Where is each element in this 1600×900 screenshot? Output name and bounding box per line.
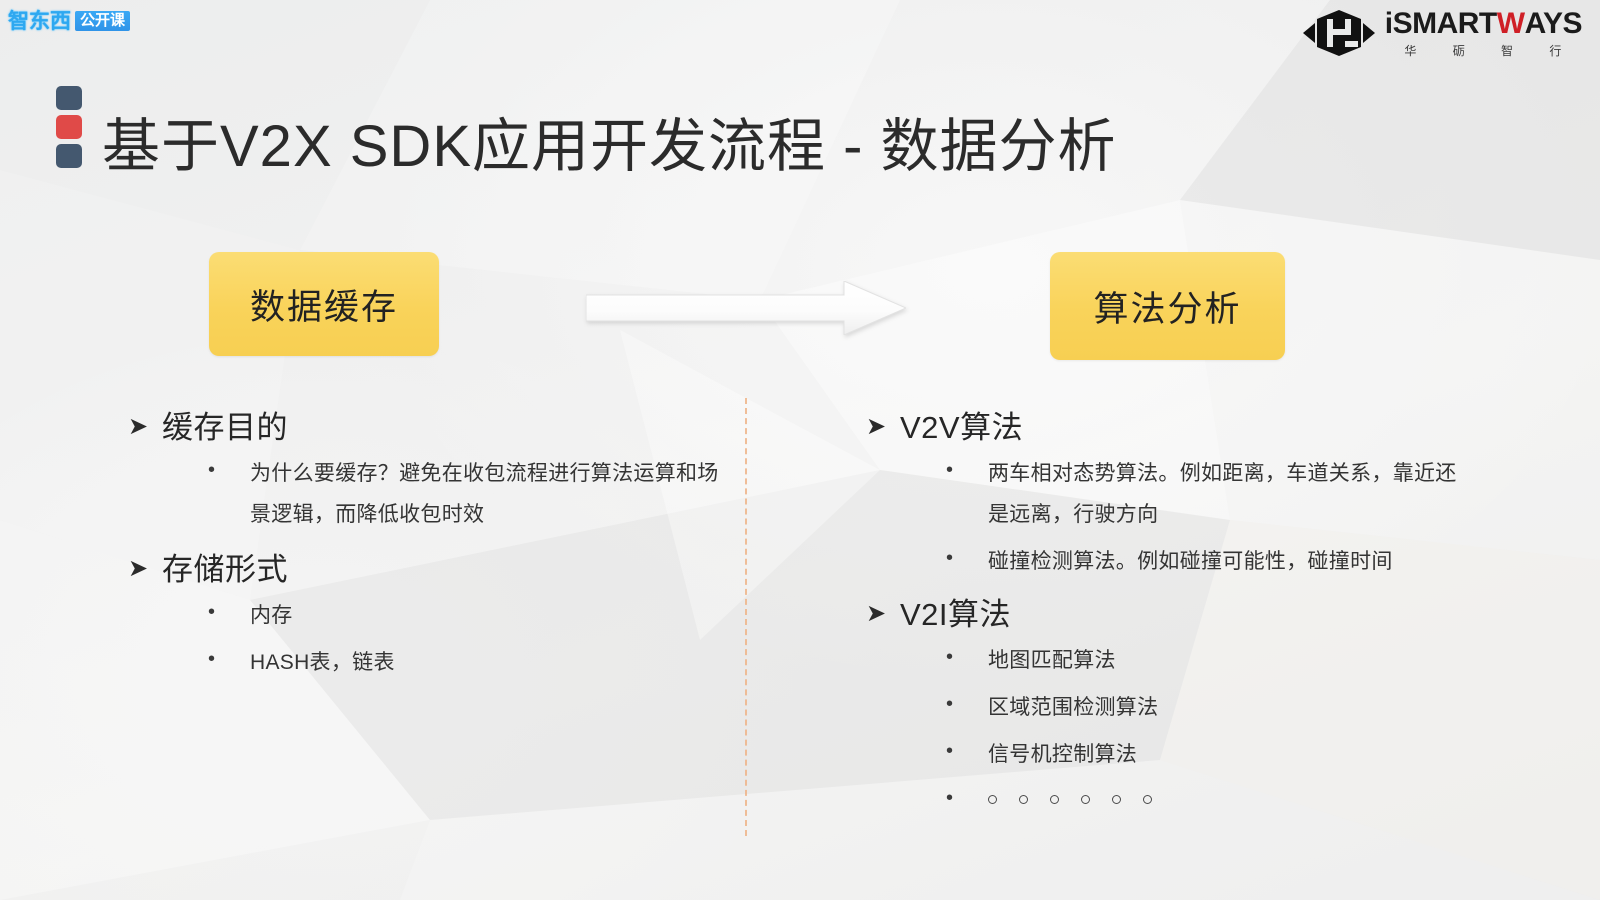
list-item-label: 地图匹配算法	[988, 641, 1116, 682]
right-arrow-icon	[586, 281, 906, 335]
dot-bullet-icon: •	[208, 597, 250, 628]
brand-wordmark: iSMART W AYS	[1385, 9, 1582, 39]
section-heading-cache-purpose: ➤ 缓存目的	[128, 408, 728, 448]
brand-word-part2: W	[1497, 9, 1525, 39]
list-item-label: 为什么要缓存？避免在收包流程进行算法运算和场景逻辑，而降低收包时效	[250, 454, 720, 536]
dot-bullet-icon: •	[946, 455, 988, 486]
chevron-right-bullet-icon: ➤	[866, 412, 900, 442]
title-marker-group	[56, 86, 82, 168]
title-row: 基于V2X SDK应用开发流程 - 数据分析	[56, 78, 1117, 217]
list-item: • 碰撞检测算法。例如碰撞可能性，碰撞时间	[946, 542, 1486, 583]
brand-sub-char-1: 砺	[1435, 45, 1483, 57]
zhidongxi-logo-icon: 智东西	[8, 11, 71, 32]
brand-subtitle: 华 砺 智 行	[1385, 45, 1582, 57]
list-item: • 内存	[208, 596, 728, 637]
list-item: • 信号机控制算法	[946, 735, 1486, 776]
dot-bullet-icon: •	[946, 689, 988, 720]
open-class-badge: 公开课	[75, 11, 130, 31]
brand-logo: iSMART W AYS 华 砺 智 行	[1303, 4, 1582, 62]
column-divider	[745, 398, 747, 836]
title-marker-2	[56, 144, 82, 168]
list-item: • 两车相对态势算法。例如距离，车道关系，靠近还是远离，行驶方向	[946, 454, 1486, 536]
heading-label: 存储形式	[162, 550, 288, 590]
dot-bullet-icon: •	[946, 543, 988, 574]
ellipsis-circle	[988, 795, 997, 804]
list-item-label: 区域范围检测算法	[988, 688, 1158, 729]
list-item: • 区域范围检测算法	[946, 688, 1486, 729]
ellipsis-circle	[1050, 795, 1059, 804]
dot-bullet-icon: •	[208, 455, 250, 486]
ellipsis-circle	[1143, 795, 1152, 804]
title-marker-0	[56, 86, 82, 110]
section-heading-storage-form: ➤ 存储形式	[128, 550, 728, 590]
list-item-ellipsis: •	[946, 782, 1486, 814]
page-title: 基于V2X SDK应用开发流程 - 数据分析	[102, 117, 1117, 178]
dot-bullet-icon: •	[946, 736, 988, 767]
list-item: • 为什么要缓存？避免在收包流程进行算法运算和场景逻辑，而降低收包时效	[208, 454, 728, 536]
heading-label: 缓存目的	[162, 408, 288, 448]
brand-word-part3: AYS	[1525, 9, 1582, 39]
flow-box-data-cache[interactable]: 数据缓存	[209, 252, 439, 356]
flow-box-algorithm-analysis[interactable]: 算法分析	[1050, 252, 1285, 360]
brand-sub-char-0: 华	[1387, 45, 1435, 57]
list-item-label: 两车相对态势算法。例如距离，车道关系，靠近还是远离，行驶方向	[988, 454, 1458, 536]
brand-text-block: iSMART W AYS 华 砺 智 行	[1385, 9, 1582, 57]
list-item-label: HASH表，链表	[250, 643, 395, 684]
brand-sub-char-2: 智	[1483, 45, 1531, 57]
title-marker-1	[56, 115, 82, 139]
section-heading-v2i: ➤ V2I算法	[866, 595, 1486, 635]
list-item-label: 内存	[250, 596, 293, 637]
slide-canvas: 智东西 公开课 iSMART W AYS 华	[0, 0, 1600, 900]
chevron-right-bullet-icon: ➤	[866, 599, 900, 629]
ismartways-logo-icon	[1303, 8, 1375, 58]
ellipsis-circle	[1112, 795, 1121, 804]
ellipsis-circle	[1019, 795, 1028, 804]
ellipsis-circles	[988, 782, 1152, 804]
dot-bullet-icon: •	[208, 644, 250, 675]
list-item-label: 碰撞检测算法。例如碰撞可能性，碰撞时间	[988, 542, 1458, 583]
list-item: • 地图匹配算法	[946, 641, 1486, 682]
brand-sub-char-3: 行	[1532, 45, 1580, 57]
dot-bullet-icon: •	[946, 783, 988, 814]
ellipsis-circle	[1081, 795, 1090, 804]
section-heading-v2v: ➤ V2V算法	[866, 408, 1486, 448]
chevron-right-bullet-icon: ➤	[128, 554, 162, 584]
heading-label: V2V算法	[900, 408, 1023, 448]
brand-word-part1: iSMART	[1385, 9, 1497, 39]
list-item-label: 信号机控制算法	[988, 735, 1137, 776]
dot-bullet-icon: •	[946, 642, 988, 673]
channel-logo: 智东西 公开课	[8, 6, 130, 36]
left-content-column: ➤ 缓存目的 • 为什么要缓存？避免在收包流程进行算法运算和场景逻辑，而降低收包…	[128, 408, 728, 690]
heading-label: V2I算法	[900, 595, 1011, 635]
right-content-column: ➤ V2V算法 • 两车相对态势算法。例如距离，车道关系，靠近还是远离，行驶方向…	[866, 408, 1486, 820]
flow-arrow	[586, 281, 906, 335]
chevron-right-bullet-icon: ➤	[128, 412, 162, 442]
list-item: • HASH表，链表	[208, 643, 728, 684]
